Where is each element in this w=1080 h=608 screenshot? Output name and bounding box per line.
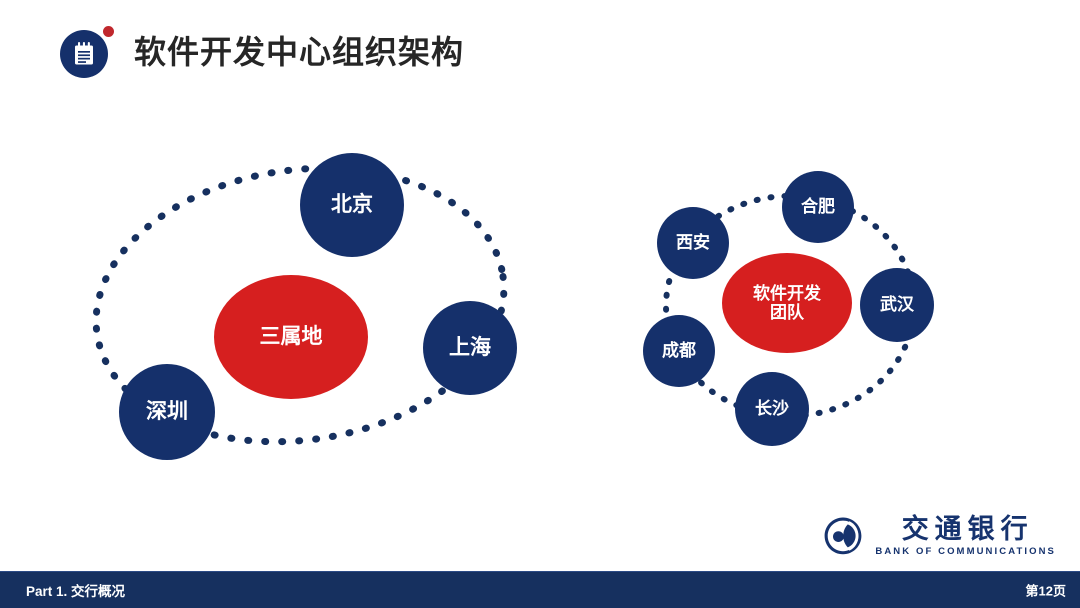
hub-node-localities-label: 三属地 [260, 325, 323, 349]
page-title: 软件开发中心组织架构 [134, 36, 464, 68]
city-node-hefei[interactable]: 合肥 [782, 171, 854, 243]
bocom-logo-icon [823, 516, 863, 556]
city-node-shenzhen-label: 深圳 [146, 400, 188, 424]
city-node-chengdu[interactable]: 成都 [643, 315, 715, 387]
brand-name-cn: 交通银行 [896, 516, 1034, 543]
hub-node-dev-team[interactable]: 软件开发 团队 [722, 253, 852, 353]
header-icon-wrap [60, 24, 116, 80]
city-node-changsha-label: 长沙 [755, 399, 789, 418]
city-node-xian[interactable]: 西安 [657, 207, 729, 279]
city-node-wuhan-label: 武汉 [880, 295, 914, 314]
hub-node-localities[interactable]: 三属地 [214, 275, 368, 399]
slide: 软件开发中心组织架构 三属地 北京 上海 深圳 软件开发 团队 合 [0, 0, 1080, 608]
footer-section-label: Part 1. 交行概况 [26, 580, 125, 600]
city-node-shenzhen[interactable]: 深圳 [119, 364, 215, 460]
footer-bar: Part 1. 交行概况 第12页 [0, 571, 1080, 608]
brand-logo: 交通银行 BANK OF COMMUNICATIONS [823, 516, 1056, 557]
org-structure-diagram: 三属地 北京 上海 深圳 软件开发 团队 合肥 武汉 长沙 成都 西安 [0, 120, 1080, 500]
notification-dot-icon [103, 26, 114, 37]
city-node-wuhan[interactable]: 武汉 [860, 268, 934, 342]
notepad-icon [60, 30, 108, 78]
hub-node-dev-team-label-line2: 团队 [770, 303, 804, 322]
city-node-xian-label: 西安 [676, 233, 710, 252]
brand-name-en: BANK OF COMMUNICATIONS [873, 547, 1056, 557]
footer-page-number: 第12页 [1026, 581, 1066, 600]
city-node-beijing[interactable]: 北京 [300, 153, 404, 257]
hub-node-dev-team-label-line1: 软件开发 [753, 284, 821, 303]
city-node-shanghai-label: 上海 [449, 336, 491, 360]
brand-text: 交通银行 BANK OF COMMUNICATIONS [873, 516, 1056, 557]
city-node-hefei-label: 合肥 [801, 197, 835, 216]
city-node-changsha[interactable]: 长沙 [735, 372, 809, 446]
city-node-beijing-label: 北京 [331, 193, 373, 217]
city-node-chengdu-label: 成都 [662, 341, 696, 360]
city-node-shanghai[interactable]: 上海 [423, 301, 517, 395]
slide-header: 软件开发中心组织架构 [60, 24, 464, 80]
